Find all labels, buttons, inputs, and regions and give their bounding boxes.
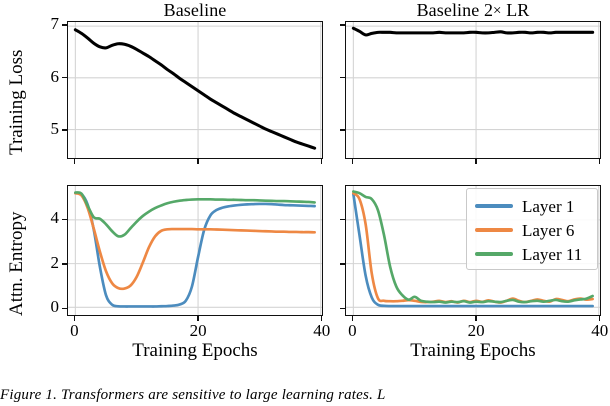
y-axis-label-training-loss: Training Loss xyxy=(6,50,28,155)
y-tick-mark xyxy=(62,129,67,130)
y-tick-label-7: 7 xyxy=(19,14,59,34)
legend-item-layer-11: Layer 11 xyxy=(473,242,591,266)
legend-label-layer-1: Layer 1 xyxy=(522,198,574,215)
chart-panel-baseline-entropy xyxy=(67,185,323,316)
y-tick-label-5: 5 xyxy=(19,119,59,139)
x-tick-mark xyxy=(475,316,476,321)
chart-panel-baseline-2x-lr-loss xyxy=(345,21,601,159)
y-tick-mark xyxy=(340,77,345,78)
x-tick-label-0: 0 xyxy=(54,321,94,341)
x-tick-mark xyxy=(197,316,198,321)
y-tick-mark xyxy=(62,263,67,264)
y-tick-mark xyxy=(340,219,345,220)
x-tick-mark xyxy=(352,316,353,321)
figure-panel-grid: Baseline Baseline 2× LR Training Loss At… xyxy=(0,0,610,406)
legend-swatch-layer-6 xyxy=(475,228,513,232)
x-tick-mark xyxy=(475,159,476,164)
y-tick-mark xyxy=(62,219,67,220)
legend-item-layer-1: Layer 1 xyxy=(473,194,591,218)
x-tick-label-20: 20 xyxy=(178,321,218,341)
panel-title-right: Baseline 2× LR xyxy=(345,0,601,21)
x-tick-mark xyxy=(74,316,75,321)
legend: Layer 1 Layer 6 Layer 11 xyxy=(466,188,598,270)
y-tick-mark xyxy=(62,77,67,78)
x-tick-mark xyxy=(352,159,353,164)
y-tick-mark xyxy=(340,308,345,309)
figure-caption: Figure 1. Transformers are sensitive to … xyxy=(0,387,610,406)
x-tick-label-40: 40 xyxy=(580,321,610,341)
chart-panel-baseline-loss xyxy=(67,21,323,159)
x-tick-mark xyxy=(321,316,322,321)
panel-title-right-suffix: LR xyxy=(502,0,530,20)
multiplication-icon: × xyxy=(493,3,502,19)
y-tick-mark xyxy=(62,308,67,309)
plot-area-baseline-entropy xyxy=(68,186,322,315)
legend-label-layer-11: Layer 11 xyxy=(522,246,582,263)
plot-area-baseline-loss xyxy=(68,22,322,158)
y-tick-mark xyxy=(62,24,67,25)
y-tick-mark xyxy=(340,263,345,264)
y-tick-label-4: 4 xyxy=(19,208,59,228)
legend-label-layer-6: Layer 6 xyxy=(522,222,574,239)
plot-area-baseline-2x-lr-loss xyxy=(346,22,600,158)
x-tick-label-20: 20 xyxy=(456,321,496,341)
x-axis-label-right: Training Epochs xyxy=(345,340,601,362)
legend-item-layer-6: Layer 6 xyxy=(473,218,591,242)
x-tick-label-0: 0 xyxy=(332,321,372,341)
y-tick-label-2: 2 xyxy=(19,253,59,273)
x-tick-mark xyxy=(321,159,322,164)
x-tick-mark xyxy=(599,316,600,321)
y-tick-label-0: 0 xyxy=(19,297,59,317)
y-tick-label-6: 6 xyxy=(19,67,59,87)
legend-swatch-layer-1 xyxy=(475,204,513,208)
panel-title-right-prefix: Baseline 2 xyxy=(417,0,493,20)
x-tick-mark xyxy=(197,159,198,164)
x-tick-mark xyxy=(599,159,600,164)
y-tick-mark xyxy=(340,24,345,25)
y-tick-mark xyxy=(340,129,345,130)
x-axis-label-left: Training Epochs xyxy=(67,340,323,362)
legend-swatch-layer-11 xyxy=(475,252,513,256)
x-tick-mark xyxy=(74,159,75,164)
panel-title-left: Baseline xyxy=(67,0,323,20)
